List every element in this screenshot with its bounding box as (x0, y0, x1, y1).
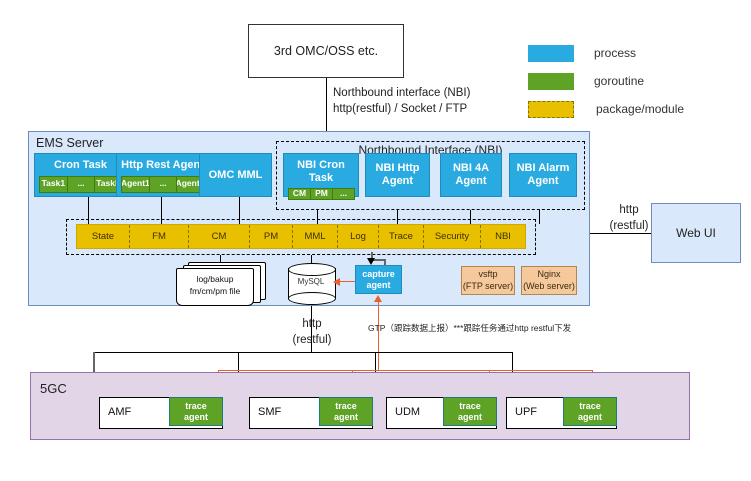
process-cron-task-title: Cron Task (54, 154, 107, 172)
network-function-amf-label: AMF (100, 398, 131, 418)
file-storage-label: log/bakup fm/cm/pm file (177, 273, 253, 298)
capture-agent-box[interactable]: capture agent (355, 265, 402, 294)
legend: process goroutine package/module (528, 38, 738, 118)
trace-agent-upf-line1: trace (564, 401, 616, 412)
network-function-upf-label: UPF (507, 398, 537, 418)
trace-agent-udm-line2: agent (444, 412, 496, 423)
process-nbi-http-agent-title: NBI Http Agent (376, 162, 420, 187)
trace-agent-amf[interactable]: trace agent (169, 397, 223, 426)
goroutine-task-ellipsis[interactable]: ... (67, 176, 96, 193)
web-ui-label: Web UI (676, 226, 716, 240)
process-nbi-cron-task-title: NBI Cron Task (284, 154, 358, 184)
third-party-omc-oss-label: 3rd OMC/OSS etc. (274, 44, 378, 58)
process-http-rest-agent[interactable]: Http Rest Agent Agent1 ... AgentN (116, 153, 209, 197)
web-ui-link-line2: (restful) (604, 219, 654, 235)
module-state[interactable]: State (77, 225, 130, 248)
trace-agent-upf[interactable]: trace agent (563, 397, 617, 426)
network-function-udm[interactable]: UDM trace agent (386, 397, 497, 429)
nbi-link-label-line1: Northbound interface (NBI) (333, 86, 470, 102)
process-nbi-alarm-agent-title: NBI Alarm Agent (517, 162, 570, 187)
process-omc-mml-label: OMC MML (209, 169, 263, 181)
arrow-capture-to-mysql-icon (333, 278, 340, 286)
trace-agent-udm[interactable]: trace agent (443, 397, 497, 426)
web-ui-box[interactable]: Web UI (651, 203, 741, 263)
process-http-rest-agent-title: Http Rest Agent (121, 154, 204, 172)
legend-label-process: process (594, 46, 636, 60)
capture-agent-line2: agent (356, 280, 401, 291)
ems-5gc-http-line2: (restful) (291, 333, 333, 349)
goroutine-agent1[interactable]: Agent1 (121, 176, 150, 193)
legend-item-goroutine: goroutine (528, 72, 644, 90)
module-bar: State FM CM PM MML Log Trace Security NB… (76, 224, 526, 249)
trace-agent-smf-line2: agent (320, 412, 372, 423)
bus-line-orange (218, 370, 593, 371)
ems-5gc-http-line1: http (291, 317, 333, 333)
goroutine-nbi-pm[interactable]: PM (310, 188, 333, 200)
process-omc-mml[interactable]: OMC MML (199, 153, 272, 197)
module-fm[interactable]: FM (130, 225, 189, 248)
bus-line-black (93, 352, 513, 353)
process-nbi-cron-task[interactable]: NBI Cron Task CM PM ... (283, 153, 359, 197)
module-trace[interactable]: Trace (379, 225, 424, 248)
process-cron-task[interactable]: Cron Task Task1 ... TaskN (34, 153, 127, 197)
mysql-label: MySQL (288, 277, 334, 286)
web-ui-link-label: http (restful) (604, 203, 654, 234)
network-function-smf[interactable]: SMF trace agent (249, 397, 373, 429)
nbi-link-label: Northbound interface (NBI) http(restful)… (333, 86, 470, 117)
module-log[interactable]: Log (338, 225, 379, 248)
connector-nbi-alarm-agent-to-modules (539, 210, 540, 224)
file-storage-line1: log/bakup (177, 273, 253, 285)
nginx-server-box[interactable]: Nginx (Web server) (521, 266, 577, 295)
mysql-cylinder-bottom (288, 292, 336, 305)
connector-capture-agent-to-mysql (338, 281, 355, 282)
file-sheet-front: log/bakup fm/cm/pm file (176, 268, 254, 306)
legend-item-process: process (528, 44, 636, 62)
module-pm[interactable]: PM (250, 225, 293, 248)
file-storage-stack: log/bakup fm/cm/pm file (176, 262, 264, 304)
goroutine-strip-cron-task: Task1 ... TaskN (39, 176, 122, 193)
network-function-upf[interactable]: UPF trace agent (506, 397, 617, 429)
module-mml[interactable]: MML (293, 225, 338, 248)
network-function-udm-label: UDM (387, 398, 420, 418)
nginx-line2: (Web server) (522, 281, 576, 293)
nbi-link-label-line2: http(restful) / Socket / FTP (333, 102, 470, 118)
trace-agent-amf-line2: agent (170, 412, 222, 423)
legend-swatch-process-icon (528, 45, 574, 62)
module-cm[interactable]: CM (189, 225, 250, 248)
capture-agent-line1: capture (356, 269, 401, 280)
trace-agent-udm-line1: trace (444, 401, 496, 412)
process-omc-mml-title: OMC MML (200, 169, 271, 182)
vsftp-line1: vsftp (462, 269, 514, 281)
trace-agent-smf[interactable]: trace agent (319, 397, 373, 426)
goroutine-task1[interactable]: Task1 (39, 176, 68, 193)
process-nbi-4a-agent[interactable]: NBI 4A Agent (440, 153, 502, 197)
mysql-cylinder-top (288, 263, 336, 276)
trace-agent-smf-line1: trace (320, 401, 372, 412)
goroutine-strip-http-rest-agent: Agent1 ... AgentN (121, 176, 204, 193)
process-nbi-alarm-agent[interactable]: NBI Alarm Agent (509, 153, 577, 197)
connector-gtp-riser (378, 302, 379, 370)
arrow-trace-to-capture-agent-icon (367, 258, 375, 265)
goroutine-nbi-ellipsis[interactable]: ... (332, 188, 355, 200)
mysql-database-cylinder: MySQL (288, 263, 334, 303)
legend-label-goroutine: goroutine (594, 74, 644, 88)
legend-item-package-module: package/module (528, 100, 684, 118)
web-ui-link-line1: http (604, 203, 654, 219)
third-party-omc-oss-box: 3rd OMC/OSS etc. (248, 24, 404, 78)
legend-swatch-goroutine-icon (528, 73, 574, 90)
nginx-line1: Nginx (522, 269, 576, 281)
vsftp-line2: (FTP server) (462, 281, 514, 293)
module-nbi[interactable]: NBI (481, 225, 525, 248)
core-network-5gc-title: 5GC (40, 381, 67, 396)
network-function-amf[interactable]: AMF trace agent (99, 397, 223, 429)
trace-agent-amf-line1: trace (170, 401, 222, 412)
legend-swatch-package-module-icon (528, 101, 574, 118)
goroutine-agent-ellipsis[interactable]: ... (149, 176, 178, 193)
trace-agent-upf-line2: agent (564, 412, 616, 423)
ems-server-title: EMS Server (36, 136, 103, 150)
ems-5gc-http-label: http (restful) (291, 317, 333, 348)
module-security[interactable]: Security (424, 225, 481, 248)
arrow-gtp-to-capture-agent-icon (374, 295, 382, 302)
file-storage-line2: fm/cm/pm file (177, 285, 253, 297)
process-nbi-4a-agent-title: NBI 4A Agent (453, 162, 489, 187)
goroutine-strip-nbi-cron-task: CM PM ... (288, 188, 354, 200)
gtp-note-label: GTP（跟踪数据上报）***跟踪任务通过http restful下发 (368, 322, 571, 334)
process-nbi-http-agent[interactable]: NBI Http Agent (365, 153, 430, 197)
vsftp-server-box[interactable]: vsftp (FTP server) (461, 266, 515, 295)
legend-label-package-module: package/module (596, 102, 684, 116)
goroutine-nbi-cm[interactable]: CM (288, 188, 311, 200)
network-function-smf-label: SMF (250, 398, 281, 418)
nbi-connector-line (326, 78, 327, 131)
